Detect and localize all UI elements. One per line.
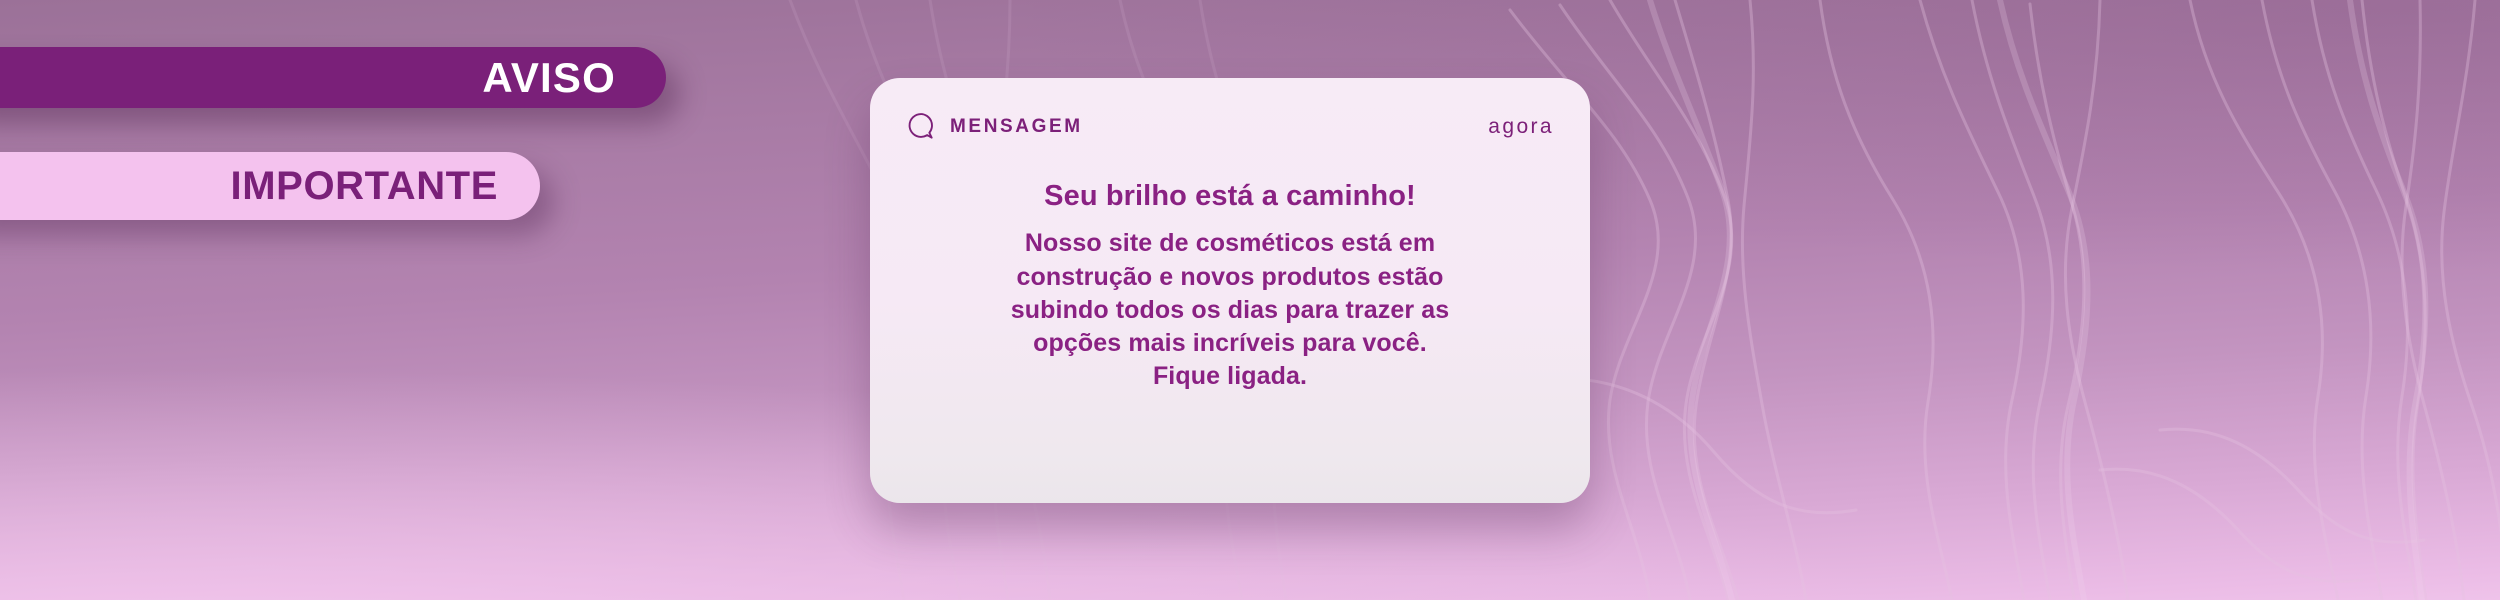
pill-aviso: AVISO (0, 47, 666, 108)
message-card-headline: Seu brilho está a caminho! (1044, 180, 1416, 213)
message-line: subindo todos os dias para trazer as (1011, 294, 1449, 327)
message-card-header: MENSAGEM agora (906, 106, 1554, 146)
message-card-kicker: MENSAGEM (950, 117, 1083, 136)
pill-aviso-label: AVISO (482, 57, 616, 99)
decorative-strands-icon (1500, 0, 2500, 600)
message-line: construção e novos produtos estão (1011, 261, 1449, 294)
chat-bubble-icon (906, 111, 936, 141)
pill-importante: IMPORTANTE (0, 152, 540, 220)
message-line: Nosso site de cosméticos está em (1011, 227, 1449, 260)
promo-banner: AVISO IMPORTANTE MENSAGEM agora Seu bril… (0, 0, 2500, 600)
message-line: opções mais incríveis para você. (1011, 327, 1449, 360)
message-card-text: Nosso site de cosméticos está em constru… (1011, 227, 1449, 393)
message-card-timestamp: agora (1488, 116, 1554, 137)
message-card-body: Seu brilho está a caminho! Nosso site de… (906, 146, 1554, 473)
message-card: MENSAGEM agora Seu brilho está a caminho… (870, 78, 1590, 503)
message-card-header-left: MENSAGEM (906, 111, 1083, 141)
message-line: Fique ligada. (1011, 360, 1449, 393)
pill-importante-label: IMPORTANTE (231, 166, 498, 206)
